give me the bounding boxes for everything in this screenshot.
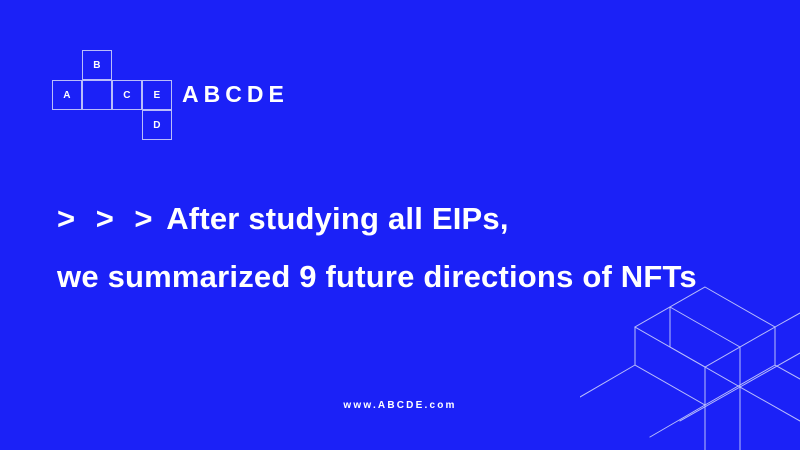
logo-lockup: B A C E D ABCDE xyxy=(52,50,289,140)
headline-block: > > > After studying all EIPs, we summar… xyxy=(57,190,777,306)
logo-cell-b: B xyxy=(82,50,112,80)
headline-chevrons: > > > xyxy=(57,201,159,236)
logo-cell-c: C xyxy=(112,80,142,110)
headline-line-1: > > > After studying all EIPs, xyxy=(57,190,777,248)
logo-cell-a: A xyxy=(52,80,82,110)
logo-cell-d-label: D xyxy=(153,120,161,131)
logo-cell-empty xyxy=(82,80,112,110)
logo-cell-c-label: C xyxy=(123,90,131,101)
logo-cell-b-label: B xyxy=(93,60,101,71)
logo-wordmark: ABCDE xyxy=(182,83,289,108)
logo-cell-e: E xyxy=(142,80,172,110)
headline-line-1-text: After studying all EIPs, xyxy=(166,201,508,236)
logo-grid-mark: B A C E D xyxy=(52,50,172,140)
headline-line-2: we summarized 9 future directions of NFT… xyxy=(57,248,777,306)
footer-url: www.ABCDE.com xyxy=(0,400,800,411)
logo-cell-a-label: A xyxy=(63,90,71,101)
logo-cell-d: D xyxy=(142,110,172,140)
slide-canvas: B A C E D ABCDE > > > After studying all… xyxy=(0,0,800,450)
logo-cell-e-label: E xyxy=(154,90,161,101)
